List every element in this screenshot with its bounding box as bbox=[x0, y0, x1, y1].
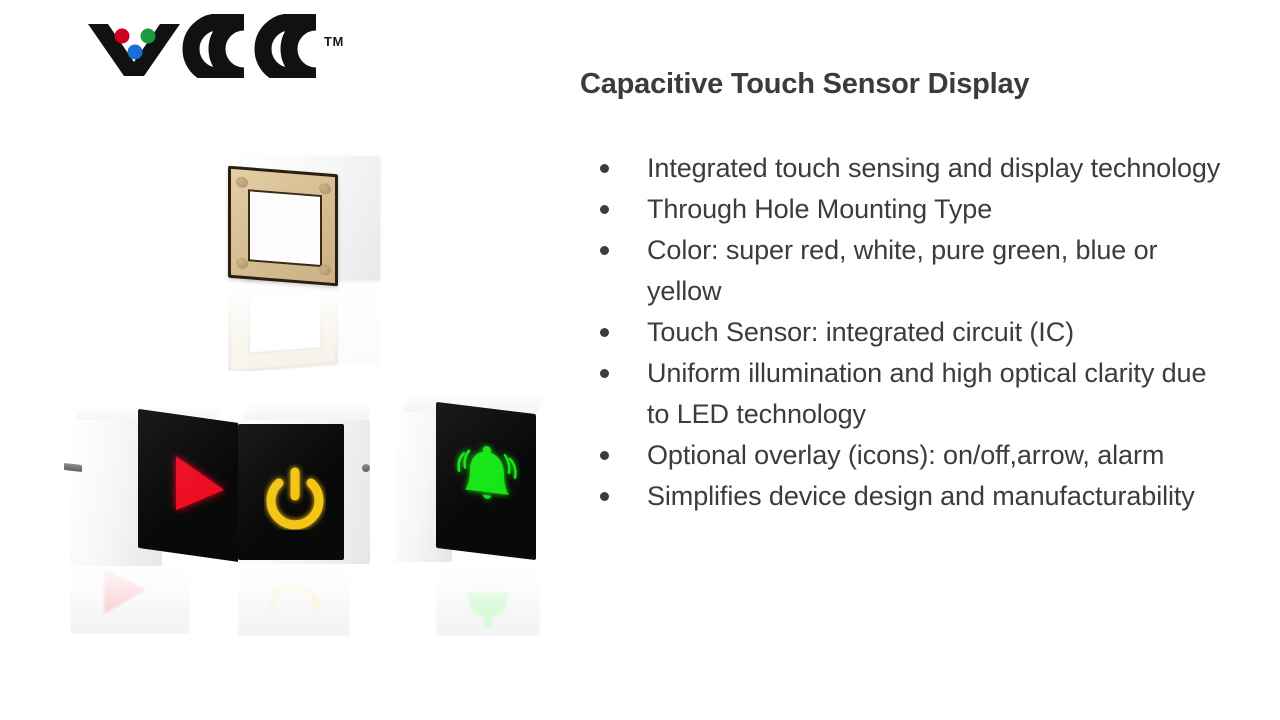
product-alarm-button bbox=[396, 392, 556, 572]
page-title: Capacitive Touch Sensor Display bbox=[580, 68, 1240, 101]
bullet-dot-icon bbox=[600, 328, 609, 337]
power-terminal-pin bbox=[362, 464, 370, 472]
bullet-dot-icon bbox=[600, 492, 609, 501]
module-corner-pad bbox=[319, 183, 331, 195]
module-reflection bbox=[228, 285, 380, 371]
bullet-dot-icon bbox=[600, 246, 609, 255]
power-icon bbox=[264, 464, 326, 530]
list-item-label: Optional overlay (icons): on/off,arrow, … bbox=[647, 440, 1164, 470]
bullet-dot-icon bbox=[600, 369, 609, 378]
power-button-reflection bbox=[238, 556, 350, 636]
module-gold-bezel bbox=[231, 169, 335, 283]
list-item: Simplifies device design and manufactura… bbox=[594, 476, 1234, 517]
arrow-button-reflection bbox=[70, 556, 190, 634]
bullet-dot-icon bbox=[600, 451, 609, 460]
module-corner-pad bbox=[236, 176, 248, 188]
list-item-label: Touch Sensor: integrated circuit (IC) bbox=[647, 317, 1074, 347]
bullet-dot-icon bbox=[600, 164, 609, 173]
bell-display-face bbox=[436, 402, 536, 560]
arrow-terminal-pin bbox=[64, 463, 82, 472]
module-corner-pad bbox=[236, 257, 248, 269]
feature-bullet-list: Integrated touch sensing and display tec… bbox=[594, 148, 1234, 517]
list-item: Color: super red, white, pure green, blu… bbox=[594, 230, 1234, 312]
list-item-label: Through Hole Mounting Type bbox=[647, 194, 992, 224]
module-front-face bbox=[228, 166, 338, 287]
list-item: Uniform illumination and high optical cl… bbox=[594, 353, 1234, 435]
alarm-button-reflection bbox=[436, 552, 540, 636]
list-item: Integrated touch sensing and display tec… bbox=[594, 148, 1234, 189]
product-power-button bbox=[234, 402, 384, 570]
bullet-dot-icon bbox=[600, 205, 609, 214]
list-item-label: Integrated touch sensing and display tec… bbox=[647, 153, 1220, 183]
module-light-window bbox=[248, 189, 322, 267]
module-corner-pad bbox=[319, 264, 331, 276]
list-item-label: Simplifies device design and manufactura… bbox=[647, 481, 1195, 511]
product-arrow-button bbox=[64, 404, 232, 570]
list-item-label: Uniform illumination and high optical cl… bbox=[647, 358, 1206, 429]
list-item: Through Hole Mounting Type bbox=[594, 189, 1234, 230]
arrow-icon bbox=[168, 451, 228, 521]
power-display-face bbox=[238, 424, 344, 560]
product-window-module bbox=[228, 156, 380, 284]
list-item-label: Color: super red, white, pure green, blu… bbox=[647, 235, 1157, 306]
list-item: Touch Sensor: integrated circuit (IC) bbox=[594, 312, 1234, 353]
bell-icon bbox=[454, 438, 520, 518]
product-photo-group bbox=[0, 0, 580, 720]
list-item: Optional overlay (icons): on/off,arrow, … bbox=[594, 435, 1234, 476]
